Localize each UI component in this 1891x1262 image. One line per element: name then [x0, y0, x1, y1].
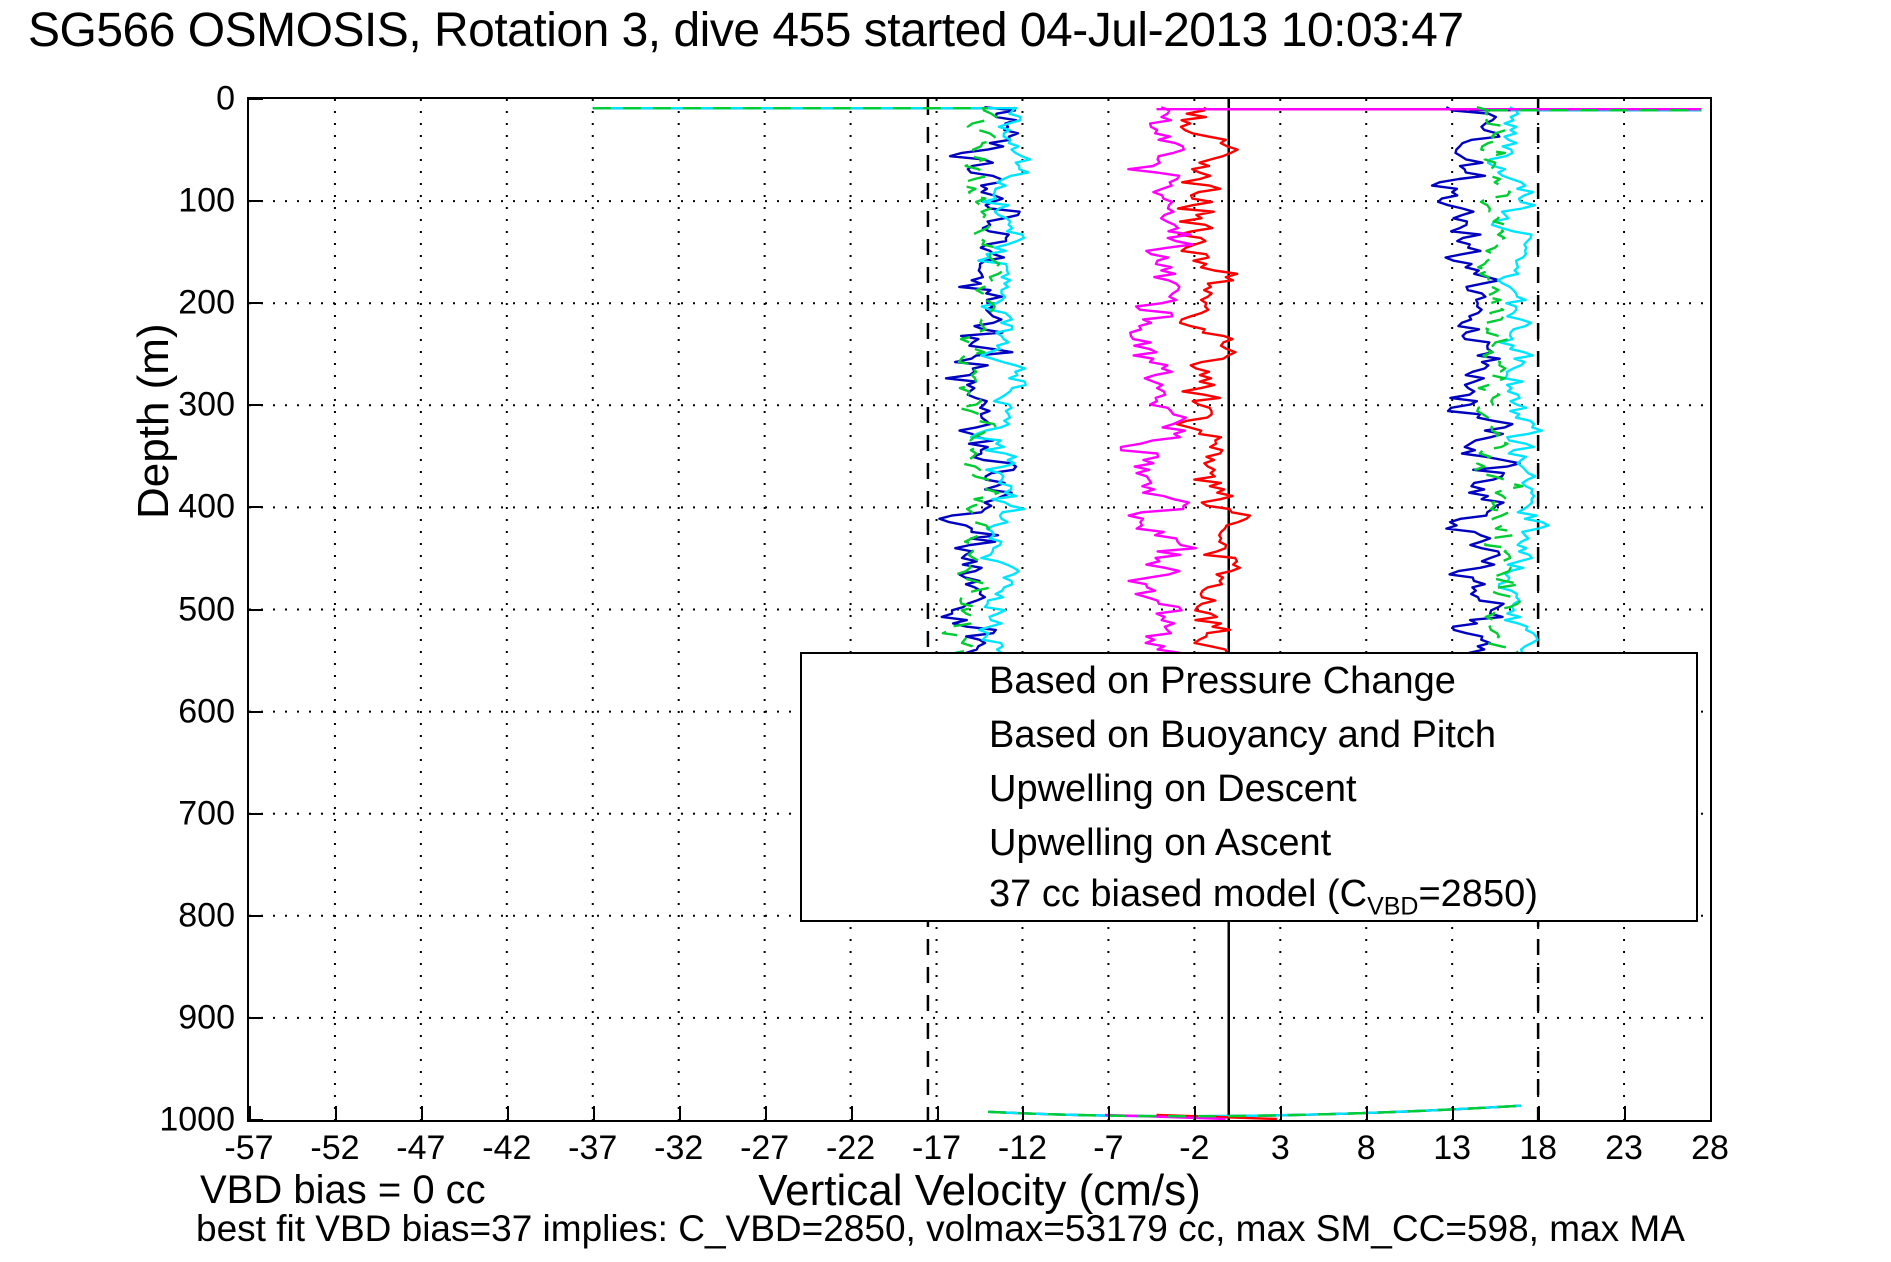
- x-tick-mark: [507, 1106, 509, 1120]
- legend-item: 37 cc biased model (CVBD=2850): [802, 870, 1696, 924]
- legend-item-label: Upwelling on Descent: [989, 768, 1357, 811]
- legend-item-label: Upwelling on Ascent: [989, 822, 1331, 865]
- x-tick-mark: [1710, 1106, 1712, 1120]
- x-tick-label: -47: [396, 1129, 445, 1168]
- x-tick-label: -37: [568, 1129, 617, 1168]
- legend-item-label-model: 37 cc biased model (CVBD=2850): [989, 873, 1538, 922]
- x-tick-mark: [851, 1106, 853, 1120]
- y-tick-mark: [249, 404, 263, 406]
- x-tick-label: 23: [1605, 1129, 1643, 1168]
- x-tick-label: -57: [224, 1129, 273, 1168]
- x-tick-label: -7: [1093, 1129, 1123, 1168]
- x-tick-mark: [1624, 1106, 1626, 1120]
- chart-legend: Based on Pressure Change Based on Buoyan…: [800, 652, 1698, 922]
- x-tick-label: 8: [1357, 1129, 1376, 1168]
- y-tick-mark: [249, 711, 263, 713]
- x-tick-label: -22: [826, 1129, 875, 1168]
- x-tick-label: 13: [1433, 1129, 1471, 1168]
- y-tick-label: 0: [115, 80, 235, 119]
- legend-item-label: Based on Buoyancy and Pitch: [989, 714, 1496, 757]
- x-tick-label: -32: [654, 1129, 703, 1168]
- x-tick-mark: [1108, 1106, 1110, 1120]
- y-tick-mark: [249, 302, 263, 304]
- legend-model-tail: =2850): [1418, 873, 1537, 915]
- y-tick-label: 500: [115, 590, 235, 629]
- legend-item: Based on Buoyancy and Pitch: [802, 708, 1696, 762]
- y-tick-mark: [249, 506, 263, 508]
- y-tick-label: 100: [115, 182, 235, 221]
- legend-item: Upwelling on Descent: [802, 762, 1696, 816]
- x-tick-label: -17: [912, 1129, 961, 1168]
- x-tick-mark: [1194, 1106, 1196, 1120]
- y-tick-mark: [249, 813, 263, 815]
- x-tick-mark: [937, 1106, 939, 1120]
- chart-canvas: [249, 99, 1710, 1120]
- y-tick-mark: [249, 1017, 263, 1019]
- y-tick-mark: [249, 98, 263, 100]
- x-tick-mark: [593, 1106, 595, 1120]
- legend-model-subscript: VBD: [1367, 892, 1418, 920]
- x-tick-label: -12: [998, 1129, 1047, 1168]
- x-tick-mark: [1022, 1106, 1024, 1120]
- y-tick-mark: [249, 915, 263, 917]
- y-tick-label: 600: [115, 692, 235, 731]
- y-tick-mark: [249, 1119, 263, 1121]
- y-tick-label: 900: [115, 998, 235, 1037]
- legend-model-text: 37 cc biased model (C: [989, 873, 1367, 915]
- y-tick-mark: [249, 609, 263, 611]
- vbd-bias-note: VBD bias = 0 cc: [200, 1168, 486, 1213]
- x-tick-mark: [679, 1106, 681, 1120]
- legend-item: Based on Pressure Change: [802, 654, 1696, 708]
- page-title: SG566 OSMOSIS, Rotation 3, dive 455 star…: [28, 6, 1891, 56]
- best-fit-note: best fit VBD bias=37 implies: C_VBD=2850…: [196, 1208, 1685, 1250]
- x-tick-label: -42: [482, 1129, 531, 1168]
- chart-plot-area: Depth (m) 010020030040050060070080090010…: [247, 97, 1712, 1122]
- x-tick-label: -2: [1179, 1129, 1209, 1168]
- x-tick-mark: [249, 1106, 251, 1120]
- legend-item-label: Based on Pressure Change: [989, 660, 1456, 703]
- legend-item: Upwelling on Ascent: [802, 816, 1696, 870]
- x-tick-label: 18: [1519, 1129, 1557, 1168]
- x-tick-label: 3: [1271, 1129, 1290, 1168]
- x-tick-mark: [1452, 1106, 1454, 1120]
- x-tick-mark: [1366, 1106, 1368, 1120]
- x-tick-mark: [335, 1106, 337, 1120]
- y-tick-label: 700: [115, 794, 235, 833]
- x-tick-mark: [765, 1106, 767, 1120]
- x-tick-label: -52: [310, 1129, 359, 1168]
- x-tick-mark: [1538, 1106, 1540, 1120]
- x-tick-label: 28: [1691, 1129, 1729, 1168]
- x-tick-label: -27: [740, 1129, 789, 1168]
- y-tick-label: 300: [115, 386, 235, 425]
- y-tick-mark: [249, 200, 263, 202]
- chart-svg: [249, 99, 1710, 1120]
- y-tick-label: 200: [115, 284, 235, 323]
- y-tick-label: 800: [115, 896, 235, 935]
- y-tick-label: 1000: [115, 1101, 235, 1140]
- y-tick-label: 400: [115, 488, 235, 527]
- x-tick-mark: [421, 1106, 423, 1120]
- x-tick-mark: [1280, 1106, 1282, 1120]
